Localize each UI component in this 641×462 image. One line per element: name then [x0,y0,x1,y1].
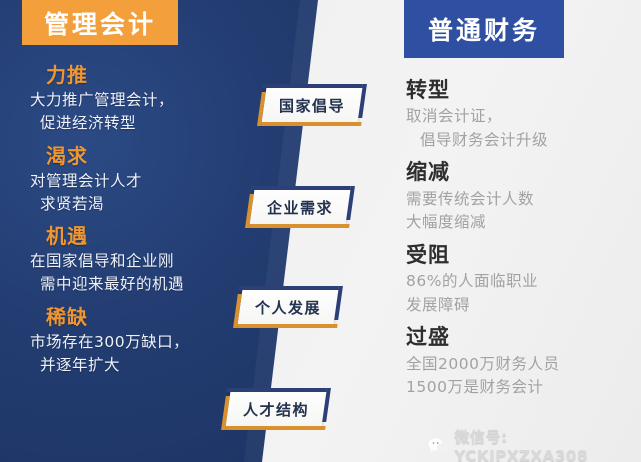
badge-bottom-cap [261,122,362,126]
right-item-title: 受阻 [406,241,636,270]
right-item-title: 过盛 [406,323,636,352]
right-item-title: 缩减 [406,158,636,187]
center-badge-national-advocacy[interactable]: 国家倡导 [262,88,363,122]
left-list-item: 力推 大力推广管理会计， 促进经济转型 [0,62,250,136]
right-item-line: 大幅度缩减 [406,211,636,235]
left-item-line: 并逐年扩大 [0,354,250,377]
center-badge-label: 人才结构 [228,392,324,426]
left-item-line: 需中迎来最好的机遇 [0,273,250,296]
wechat-icon [428,437,448,455]
wechat-id-text: 微信号: YCKJPXZXA308 [454,426,641,462]
center-badge-personal-development[interactable]: 个人发展 [238,290,339,324]
right-list-item: 过盛 全国2000万财务人员 1500万是财务会计 [406,323,636,399]
right-item-line: 倡导财务会计升级 [406,129,636,153]
badge-bottom-cap [237,324,338,328]
left-column-header: 管理会计 [22,0,178,45]
left-item-line: 促进经济转型 [0,112,250,135]
center-badge-label: 企业需求 [252,190,348,224]
badge-bottom-cap [225,426,326,430]
right-item-line: 发展障碍 [406,294,636,318]
right-list-item: 缩减 需要传统会计人数 大幅度缩减 [406,158,636,234]
right-item-line: 需要传统会计人数 [406,188,636,212]
right-item-line: 86%的人面临职业 [406,270,636,294]
left-item-line: 市场存在300万缺口， [0,331,250,354]
left-list-item: 稀缺 市场存在300万缺口， 并逐年扩大 [0,304,250,378]
right-item-line: 全国2000万财务人员 [406,353,636,377]
right-item-line: 1500万是财务会计 [406,376,636,400]
left-list-item: 渴求 对管理会计人才 求贤若渴 [0,143,250,217]
right-item-title: 转型 [406,76,636,105]
wechat-watermark: 微信号: YCKJPXZXA308 [428,426,641,462]
center-badge-label: 个人发展 [240,290,336,324]
left-item-title: 力推 [0,62,250,89]
left-item-line: 大力推广管理会计， [0,89,250,112]
right-column-header: 普通财务 [404,0,564,58]
left-item-line: 对管理会计人才 [0,170,250,193]
right-list-item: 转型 取消会计证， 倡导财务会计升级 [406,76,636,152]
left-list-item: 机遇 在国家倡导和企业刚 需中迎来最好的机遇 [0,223,250,297]
center-badge-label: 国家倡导 [264,88,360,122]
right-item-line: 取消会计证， [406,105,636,129]
left-item-title: 渴求 [0,143,250,170]
left-item-title: 机遇 [0,223,250,250]
center-badge-talent-structure[interactable]: 人才结构 [226,392,327,426]
left-item-line: 在国家倡导和企业刚 [0,250,250,273]
left-column-list: 力推 大力推广管理会计， 促进经济转型 渴求 对管理会计人才 求贤若渴 机遇 在… [0,62,250,384]
left-item-title: 稀缺 [0,304,250,331]
center-badge-enterprise-demand[interactable]: 企业需求 [250,190,351,224]
right-column-list: 转型 取消会计证， 倡导财务会计升级 缩减 需要传统会计人数 大幅度缩减 受阻 … [406,76,636,406]
left-item-line: 求贤若渴 [0,193,250,216]
right-list-item: 受阻 86%的人面临职业 发展障碍 [406,241,636,317]
badge-bottom-cap [249,224,350,228]
infographic-canvas: 管理会计 普通财务 力推 大力推广管理会计， 促进经济转型 渴求 对管理会计人才… [0,0,641,462]
